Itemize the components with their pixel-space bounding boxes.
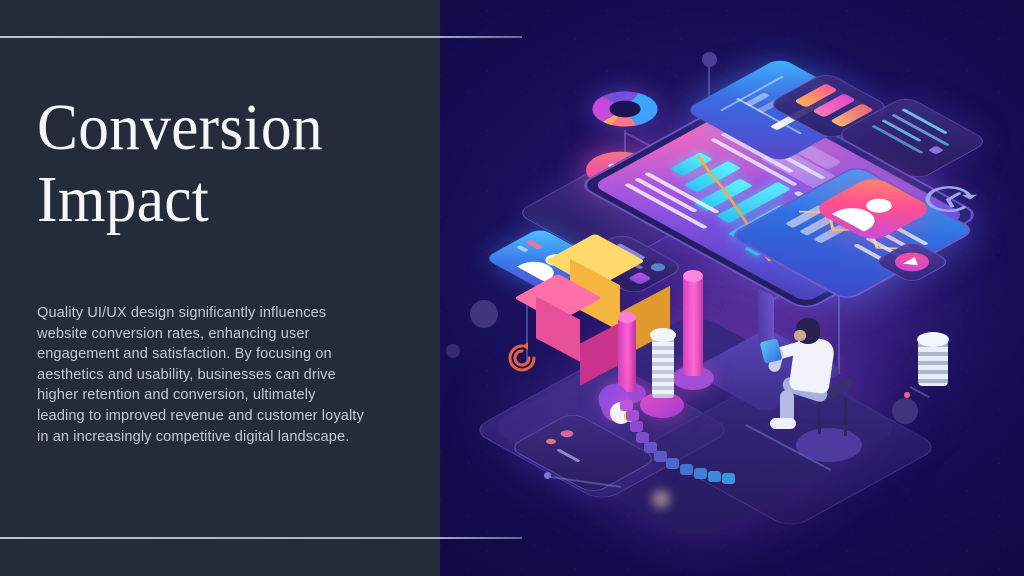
accent-dot xyxy=(892,398,918,424)
bokeh-dot xyxy=(652,490,670,508)
wire-node-top xyxy=(702,52,717,67)
donut-chart-icon xyxy=(579,84,671,134)
isometric-illustration xyxy=(440,0,1024,576)
accent-dot xyxy=(470,300,498,328)
left-panel xyxy=(0,0,440,576)
body-paragraph: Quality UI/UX design significantly influ… xyxy=(37,303,367,447)
person-face xyxy=(794,330,806,341)
wire-v3 xyxy=(838,290,840,374)
accent-dot xyxy=(446,344,460,358)
presentation-slide: Conversion Impact Quality UI/UX design s… xyxy=(0,0,1024,576)
page-title: Conversion Impact xyxy=(37,92,372,236)
bottom-divider-rule xyxy=(0,537,522,539)
stool-leg xyxy=(844,398,847,436)
top-divider-rule xyxy=(0,36,522,38)
chain-node xyxy=(544,472,551,479)
connected-chain xyxy=(616,398,816,528)
spiral-icon xyxy=(502,338,542,378)
